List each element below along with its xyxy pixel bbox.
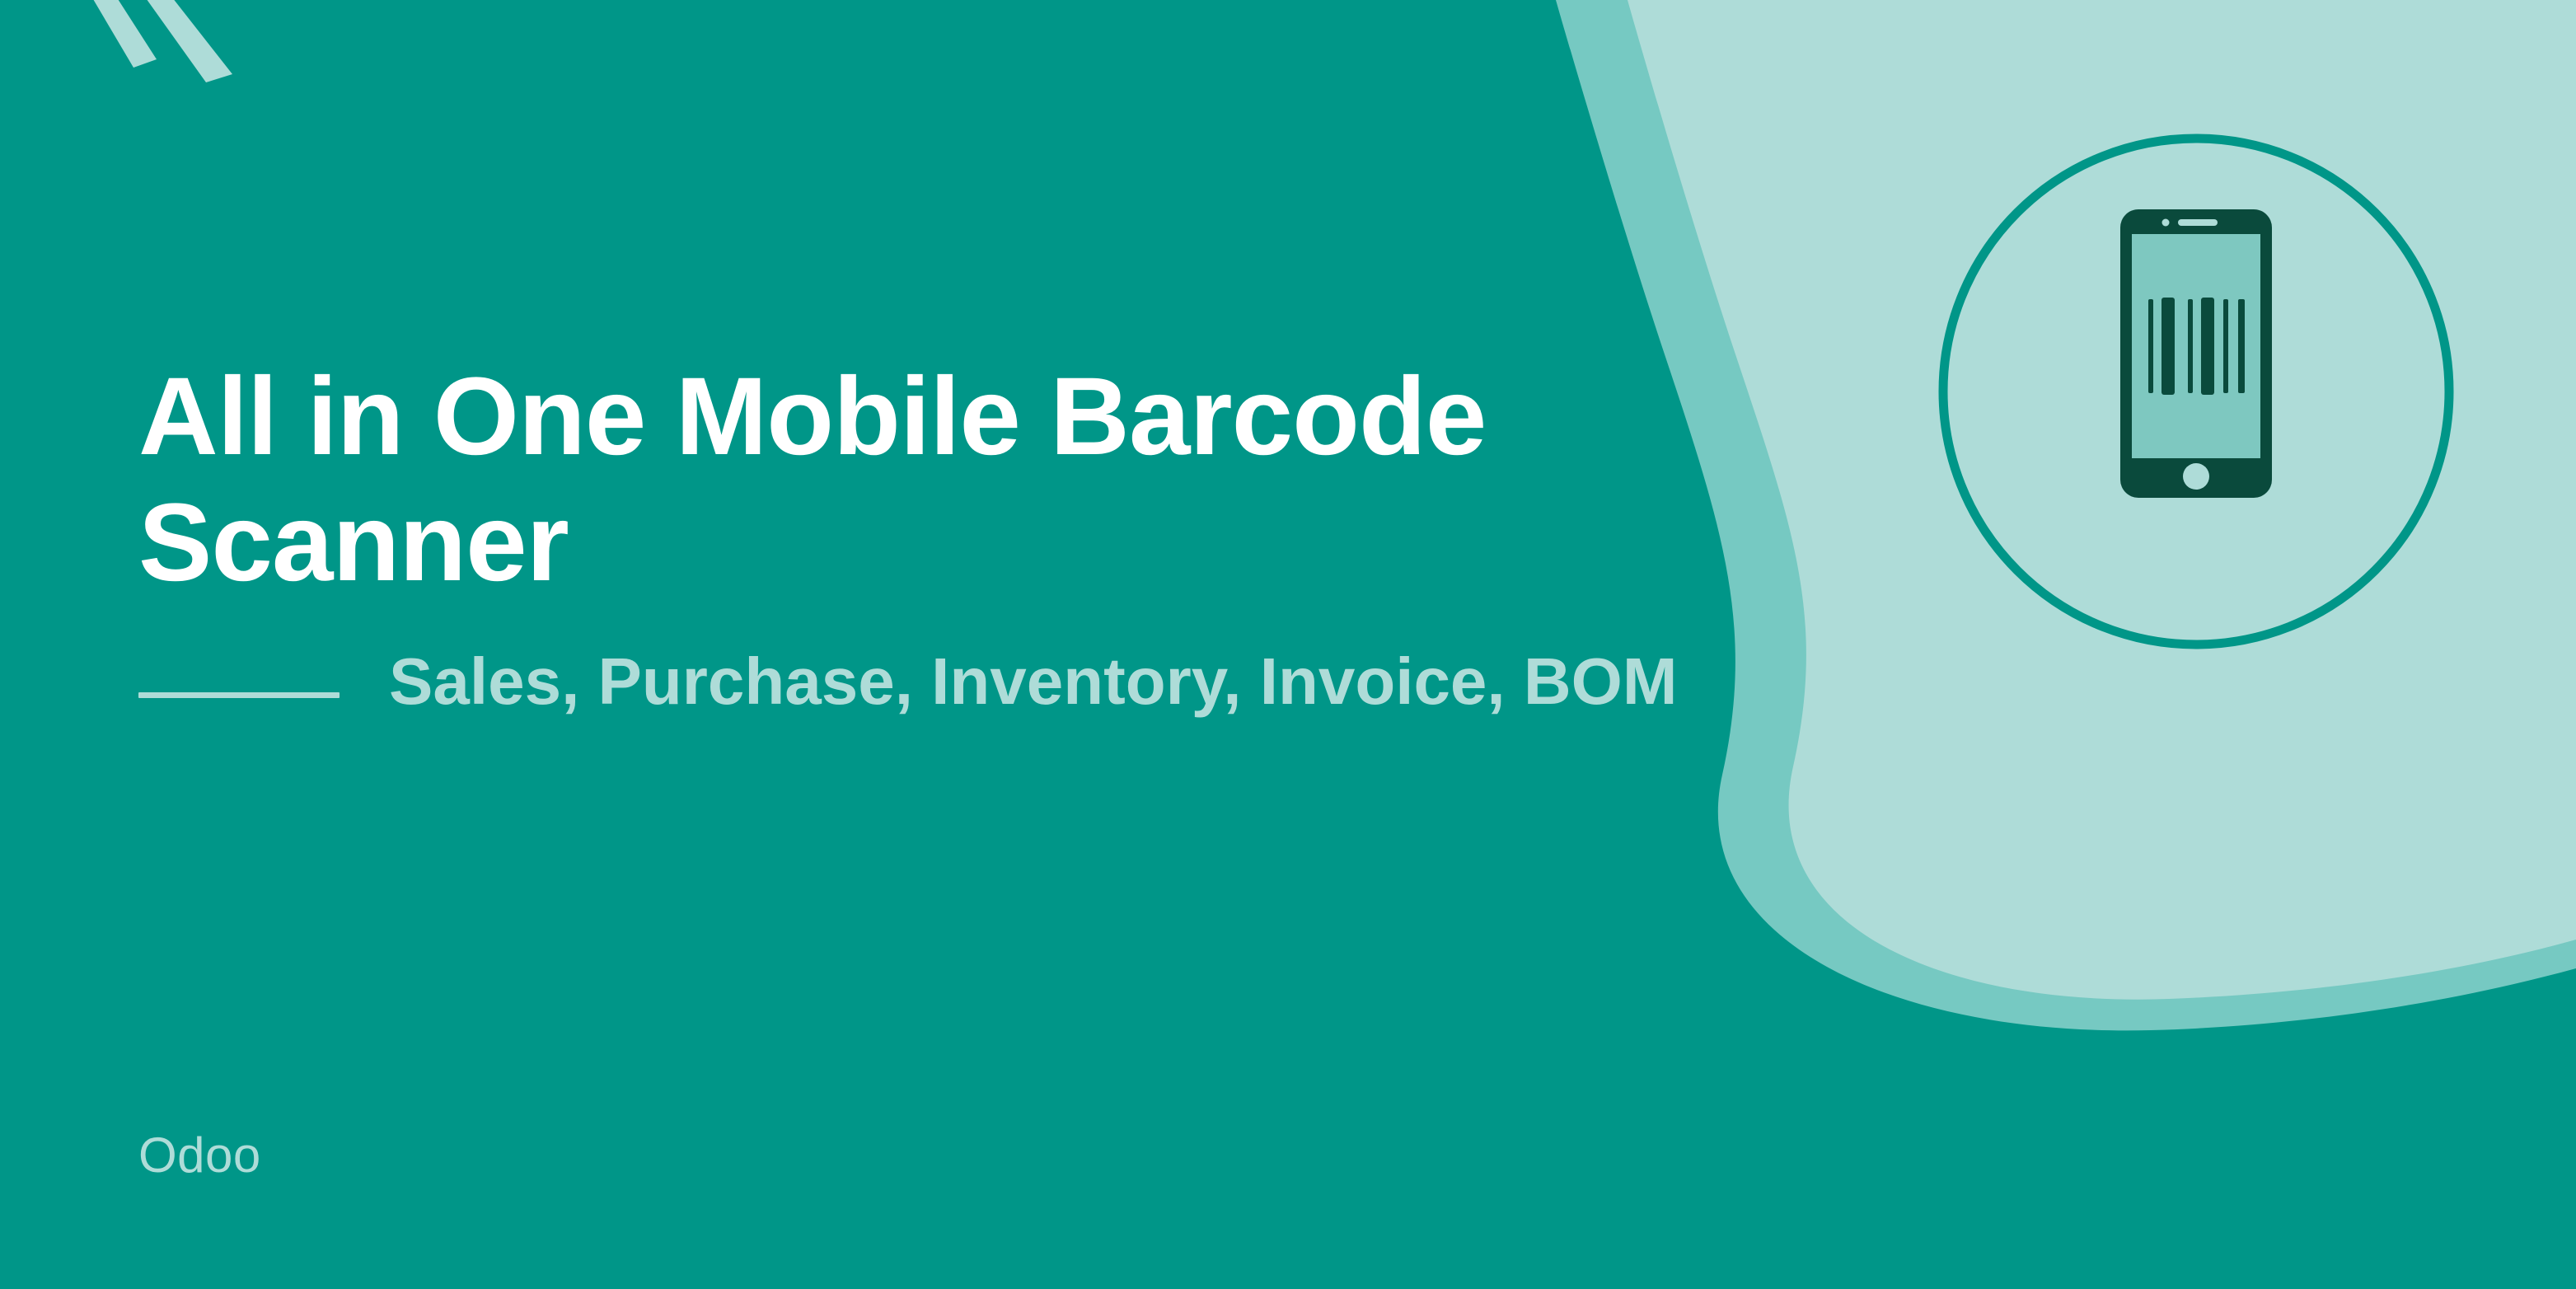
corner-stripes-decoration — [0, 0, 330, 181]
front-camera-dot-icon — [2162, 219, 2170, 227]
barcode-scanner-phone-medallion — [1928, 124, 2464, 659]
earpiece-speaker-icon — [2178, 219, 2218, 226]
brand-label: Odoo — [138, 1131, 261, 1180]
subtitle-row: Sales, Purchase, Inventory, Invoice, BOM — [138, 641, 1745, 722]
slide-canvas: All in One Mobile Barcode Scanner Sales,… — [0, 0, 2576, 1289]
page-title: All in One Mobile Barcode Scanner — [138, 354, 1704, 607]
page-subtitle: Sales, Purchase, Inventory, Invoice, BOM — [389, 641, 1678, 722]
diagonal-stripe-1 — [74, 0, 157, 68]
home-button-icon — [2183, 463, 2209, 490]
title-block: All in One Mobile Barcode Scanner Sales,… — [138, 354, 1745, 721]
subtitle-rule-divider — [138, 692, 340, 698]
